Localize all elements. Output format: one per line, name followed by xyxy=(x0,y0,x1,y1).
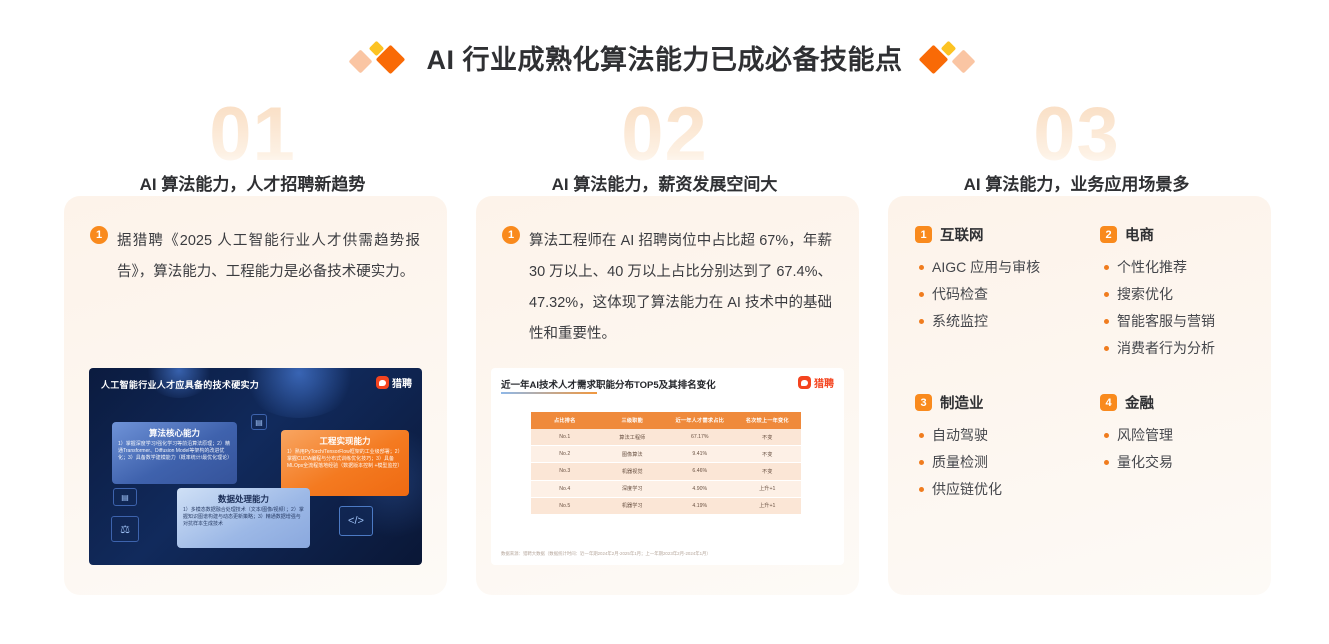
infobox-title: 数据处理能力 xyxy=(183,493,304,505)
infobox-data-processing: 数据处理能力 1）多模态数据融合处理技术（文本/图像/视频）；2）掌握知识图谱构… xyxy=(177,488,310,548)
diamond-decor-left-icon xyxy=(352,41,408,75)
cell-role: 图像算法 xyxy=(599,446,667,463)
group-name: 金融 xyxy=(1125,392,1154,413)
group-manufacturing: 3 制造业 自动驾驶 质量检测 供应链优化 xyxy=(915,392,1002,503)
group-item-list: 个性化推荐 搜索优化 智能客服与营销 消费者行为分析 xyxy=(1100,254,1215,362)
cell-rank: No.3 xyxy=(531,463,599,480)
group-item-list: 风险管理 量化交易 xyxy=(1100,422,1173,476)
cell-rank: No.1 xyxy=(531,429,599,446)
card1-paragraph: 据猎聘《2025 人工智能行业人才供需趋势报告》，算法能力、工程能力是必备技术硬… xyxy=(117,226,420,288)
cell-rank: No.2 xyxy=(531,446,599,463)
column-title: AI 算法能力，业务应用场景多 xyxy=(964,170,1190,195)
table-row: No.4 深度学习 4.90% 上升+1 xyxy=(531,480,801,497)
list-item: 个性化推荐 xyxy=(1117,254,1215,281)
diamond-peach-icon xyxy=(349,49,373,73)
infobox-lines: 1）掌握深度学习/强化学习等前沿算法原理；2）精通Transformer、Dif… xyxy=(118,441,231,462)
group-ecommerce: 2 电商 个性化推荐 搜索优化 智能客服与营销 消费者行为分析 xyxy=(1100,224,1215,362)
table-col-rank: 占比排名 xyxy=(531,412,599,429)
column-watermark-number: 01 xyxy=(209,97,296,173)
list-item: 智能客服与营销 xyxy=(1117,308,1215,335)
list-item: 搜索优化 xyxy=(1117,281,1215,308)
group-internet: 1 互联网 AIGC 应用与审核 代码检查 系统监控 xyxy=(915,224,1040,335)
chart-source-note: 数据来源：猎聘大数据（数据统计时间：近一年期2024年2月-2025年1月；上一… xyxy=(501,551,711,557)
table-col-share: 近一年人才需求占比 xyxy=(666,412,734,429)
group-item-list: AIGC 应用与审核 代码检查 系统监控 xyxy=(915,254,1040,335)
card2-paragraph: 算法工程师在 AI 招聘岗位中占比超 67%，年薪 30 万以上、40 万以上占… xyxy=(529,226,832,350)
cell-role: 机器学习 xyxy=(599,497,667,514)
code-icon: </> xyxy=(339,506,373,536)
column-header-1: 01 AI 算法能力，人才招聘新趋势 xyxy=(65,105,440,195)
liepin-brand-name: 猎聘 xyxy=(814,375,834,390)
list-item: 质量检测 xyxy=(932,449,1002,476)
table-row: No.5 机器学习 4.19% 上升+1 xyxy=(531,497,801,514)
chart-title-underline xyxy=(501,392,597,394)
cell-role: 机器视觉 xyxy=(599,463,667,480)
table-row: No.1 算法工程师 67.17% 不变 xyxy=(531,429,801,446)
badge-number: 3 xyxy=(915,394,932,411)
list-item: 供应链优化 xyxy=(932,476,1002,503)
table-row: No.3 机器视觉 6.46% 不变 xyxy=(531,463,801,480)
liepin-mark-icon xyxy=(376,376,389,389)
list-item: AIGC 应用与审核 xyxy=(932,254,1040,281)
badge-number: 1 xyxy=(502,226,520,244)
group-item-list: 自动驾驶 质量检测 供应链优化 xyxy=(915,422,1002,503)
document-icon: ▤ xyxy=(251,414,267,430)
cell-change: 上升+1 xyxy=(734,497,802,514)
group-finance: 4 金融 风险管理 量化交易 xyxy=(1100,392,1173,476)
liepin-brand-name: 猎聘 xyxy=(392,375,412,390)
cell-change: 不变 xyxy=(734,463,802,480)
column-watermark-number: 03 xyxy=(1033,97,1120,173)
table-header-row: 占比排名 三级职能 近一年人才需求占比 名次较上一年变化 xyxy=(531,412,801,429)
list-item: 风险管理 xyxy=(1117,422,1173,449)
list-item: 自动驾驶 xyxy=(932,422,1002,449)
column-watermark-number: 02 xyxy=(621,97,708,173)
infobox-engineering: 工程实现能力 1）熟用PyTorch/TensorFlow框架的工业级部署；2）… xyxy=(281,430,409,496)
badge-number: 2 xyxy=(1100,226,1117,243)
infobox-title: 算法核心能力 xyxy=(118,427,231,439)
chart-title: 近一年AI技术人才需求职能分布TOP5及其排名变化 xyxy=(501,377,716,391)
infobox-core-algorithm: 算法核心能力 1）掌握深度学习/强化学习等前沿算法原理；2）精通Transfor… xyxy=(112,422,237,484)
infobox-lines: 1）多模态数据融合处理技术（文本/图像/视频）；2）掌握知识图谱构建与动态更新策… xyxy=(183,507,304,528)
table-row: No.2 图像算法 9.41% 不变 xyxy=(531,446,801,463)
liepin-mark-icon xyxy=(798,376,811,389)
page-title-row: AI 行业成熟化算法能力已成必备技能点 xyxy=(0,38,1329,77)
infobox-lines: 1）熟用PyTorch/TensorFlow框架的工业级部署；2）掌握CUDA编… xyxy=(287,449,403,470)
column-header-3: 03 AI 算法能力，业务应用场景多 xyxy=(889,105,1264,195)
cell-share: 9.41% xyxy=(666,446,734,463)
column-header-2: 02 AI 算法能力，薪资发展空间大 xyxy=(477,105,852,195)
chart-demand-top5: 近一年AI技术人才需求职能分布TOP5及其排名变化 猎聘 占比排名 三级职能 近… xyxy=(491,368,844,565)
badge-number: 1 xyxy=(90,226,108,244)
group-name: 制造业 xyxy=(940,392,984,413)
card1-highlight: 1 据猎聘《2025 人工智能行业人才供需趋势报告》，算法能力、工程能力是必备技… xyxy=(90,226,420,288)
infographic-title: 人工智能行业人才应具备的技术硬实力 xyxy=(101,378,259,391)
table-col-role: 三级职能 xyxy=(599,412,667,429)
cell-role: 算法工程师 xyxy=(599,429,667,446)
group-name: 电商 xyxy=(1125,224,1154,245)
slide-root: AI 行业成熟化算法能力已成必备技能点 01 AI 算法能力，人才招聘新趋势 0… xyxy=(0,0,1329,644)
card-recruitment-trend: 1 据猎聘《2025 人工智能行业人才供需趋势报告》，算法能力、工程能力是必备技… xyxy=(64,196,447,595)
cell-change: 不变 xyxy=(734,446,802,463)
diamond-peach-icon xyxy=(951,49,975,73)
cell-share: 4.90% xyxy=(666,480,734,497)
card-business-scenarios: 1 互联网 AIGC 应用与审核 代码检查 系统监控 2 电商 个性化推荐 搜索… xyxy=(888,196,1271,595)
list-item: 系统监控 xyxy=(932,308,1040,335)
column-title: AI 算法能力，薪资发展空间大 xyxy=(552,170,778,195)
column-title: AI 算法能力，人才招聘新趋势 xyxy=(140,170,366,195)
infographic-hard-skills: 人工智能行业人才应具备的技术硬实力 猎聘 算法核心能力 1）掌握深度学习/强化学… xyxy=(89,368,422,565)
badge-number: 4 xyxy=(1100,394,1117,411)
infobox-title: 工程实现能力 xyxy=(287,435,403,447)
cell-rank: No.4 xyxy=(531,480,599,497)
table-col-change: 名次较上一年变化 xyxy=(734,412,802,429)
cell-role: 深度学习 xyxy=(599,480,667,497)
glow-decor-1 xyxy=(239,368,359,418)
diamond-decor-right-icon xyxy=(921,41,977,75)
list-item: 量化交易 xyxy=(1117,449,1173,476)
liepin-logo: 猎聘 xyxy=(376,375,412,390)
card2-highlight: 1 算法工程师在 AI 招聘岗位中占比超 67%，年薪 30 万以上、40 万以… xyxy=(502,226,832,350)
list-item: 代码检查 xyxy=(932,281,1040,308)
badge-number: 1 xyxy=(915,226,932,243)
page-title: AI 行业成熟化算法能力已成必备技能点 xyxy=(426,38,902,77)
demand-table: 占比排名 三级职能 近一年人才需求占比 名次较上一年变化 No.1 算法工程师 … xyxy=(531,412,801,515)
cell-share: 4.19% xyxy=(666,497,734,514)
group-name: 互联网 xyxy=(940,224,984,245)
list-item: 消费者行为分析 xyxy=(1117,335,1215,362)
robot-icon: ⚖ xyxy=(111,516,139,542)
cell-share: 67.17% xyxy=(666,429,734,446)
cell-rank: No.5 xyxy=(531,497,599,514)
card-salary-growth: 1 算法工程师在 AI 招聘岗位中占比超 67%，年薪 30 万以上、40 万以… xyxy=(476,196,859,595)
cell-share: 6.46% xyxy=(666,463,734,480)
server-icon: ▤ xyxy=(113,488,137,506)
liepin-logo: 猎聘 xyxy=(798,375,834,390)
cell-change: 上升+1 xyxy=(734,480,802,497)
cell-change: 不变 xyxy=(734,429,802,446)
